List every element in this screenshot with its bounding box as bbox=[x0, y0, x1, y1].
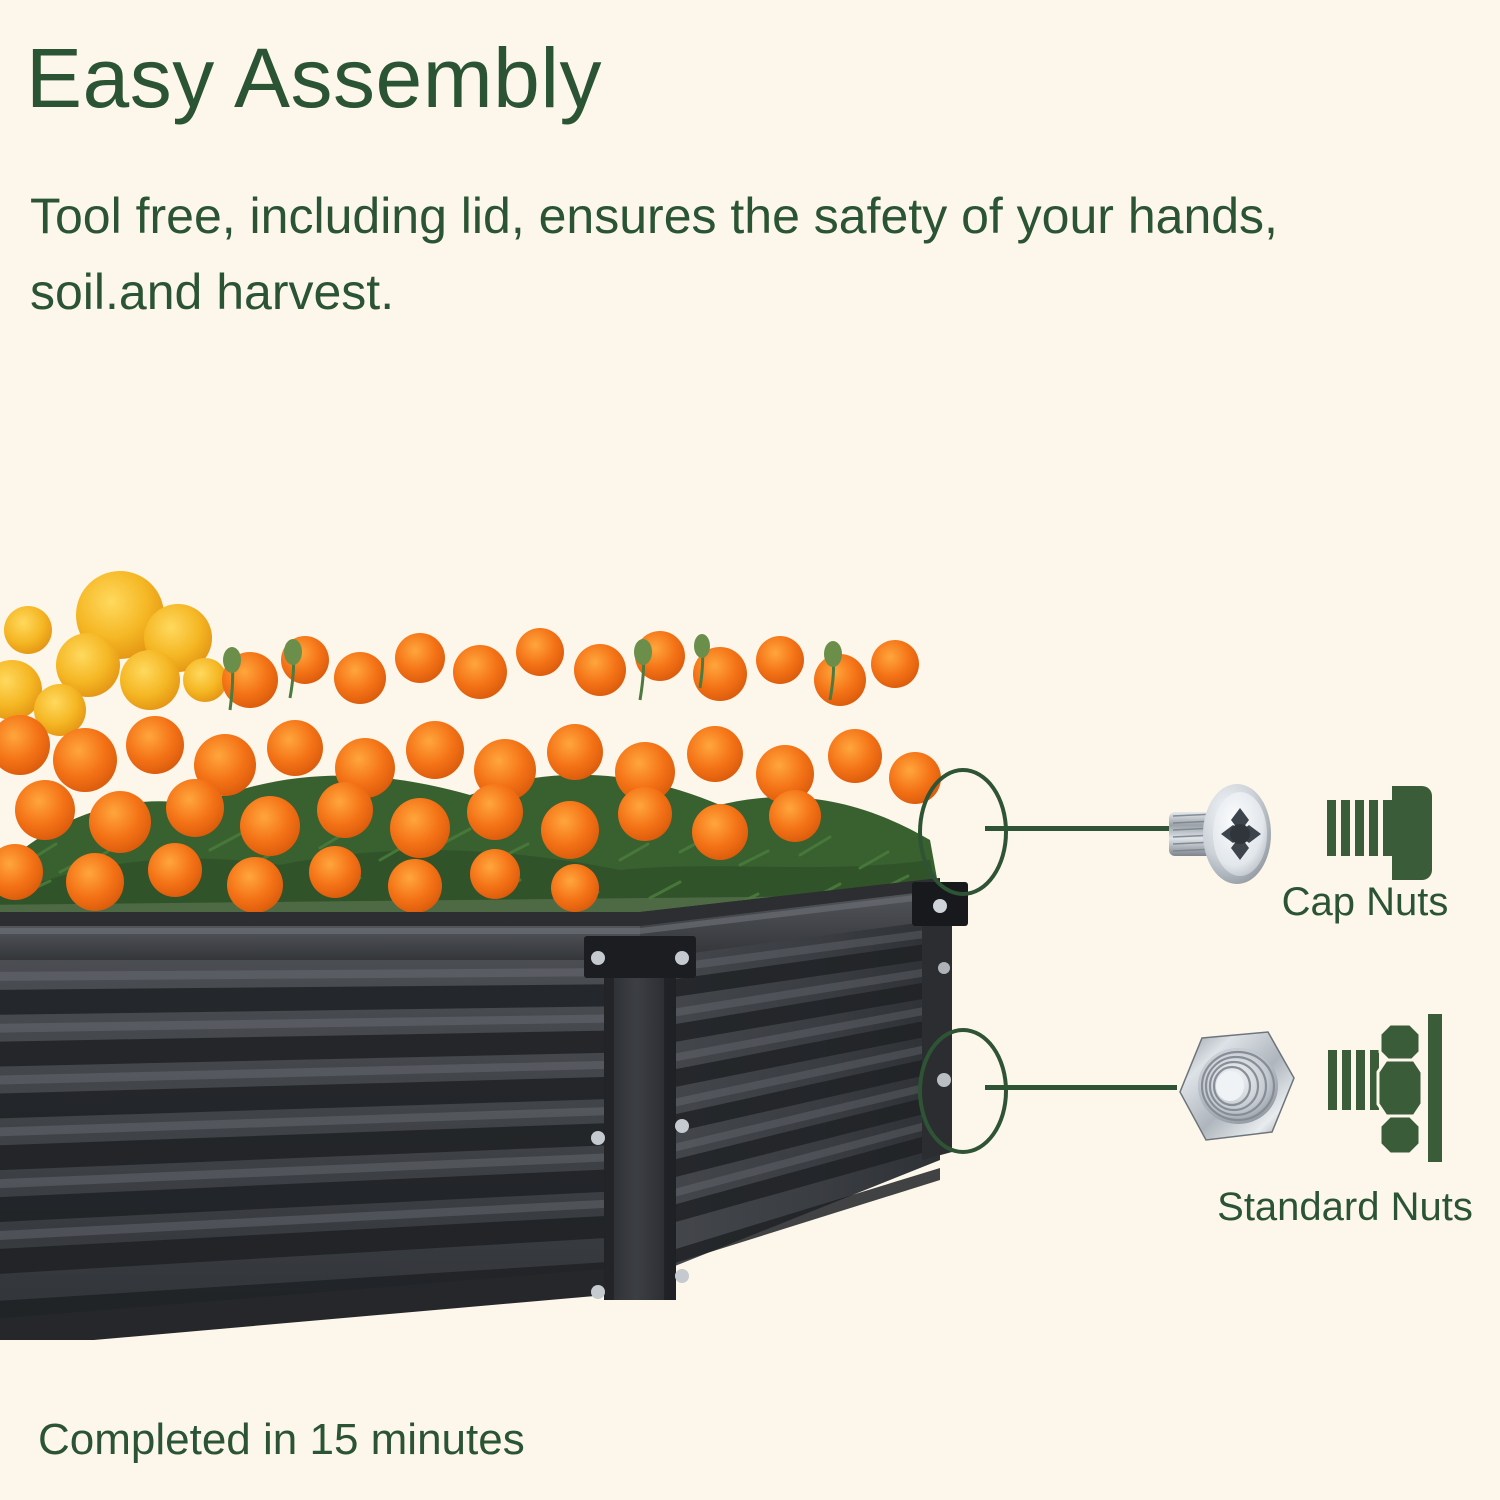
hex-nut-photo bbox=[1172, 1022, 1302, 1150]
standard-nuts-label: Standard Nuts bbox=[1190, 1185, 1500, 1230]
panel-screw-upper bbox=[938, 962, 950, 974]
yellow-marigold-cluster bbox=[0, 571, 227, 736]
screw-head bbox=[591, 1131, 605, 1145]
leader-line-cap-nuts bbox=[985, 826, 1170, 831]
cap-body bbox=[1392, 786, 1432, 880]
corner-post bbox=[604, 940, 676, 1300]
page-subtitle: Tool free, including lid, ensures the sa… bbox=[30, 178, 1360, 330]
hex-nut-shape bbox=[1378, 1024, 1422, 1154]
screw-head bbox=[675, 1269, 689, 1283]
leader-line-standard-nuts bbox=[985, 1085, 1177, 1090]
raised-garden-bed-illustration bbox=[0, 560, 1000, 1340]
screw-head bbox=[675, 951, 689, 965]
screw-head bbox=[933, 899, 947, 913]
screw-head bbox=[675, 1119, 689, 1133]
infographic-page: Easy Assembly Tool free, including lid, … bbox=[0, 0, 1500, 1500]
thread-bars bbox=[1328, 1050, 1379, 1110]
cap-nut-glyph-icon bbox=[1325, 778, 1440, 888]
screw-head bbox=[591, 1285, 605, 1299]
thread-bars bbox=[1327, 800, 1392, 856]
marigold-plants bbox=[0, 571, 941, 918]
screw-head bbox=[591, 951, 605, 965]
cap-nuts-label: Cap Nuts bbox=[1230, 880, 1500, 925]
cap-nut-photo bbox=[1163, 778, 1283, 890]
standard-nut-glyph-icon bbox=[1328, 1012, 1448, 1164]
front-panel bbox=[0, 960, 640, 1340]
page-title: Easy Assembly bbox=[26, 36, 602, 120]
planter-graphic bbox=[0, 560, 1000, 1340]
completion-time-note: Completed in 15 minutes bbox=[38, 1415, 525, 1465]
callout-circle-cap-nuts bbox=[918, 768, 1008, 896]
corner-bracket-near bbox=[584, 936, 696, 978]
orange-marigold-back-row bbox=[222, 628, 919, 708]
callout-circle-standard-nuts bbox=[918, 1028, 1008, 1154]
panel-bar bbox=[1428, 1014, 1442, 1162]
